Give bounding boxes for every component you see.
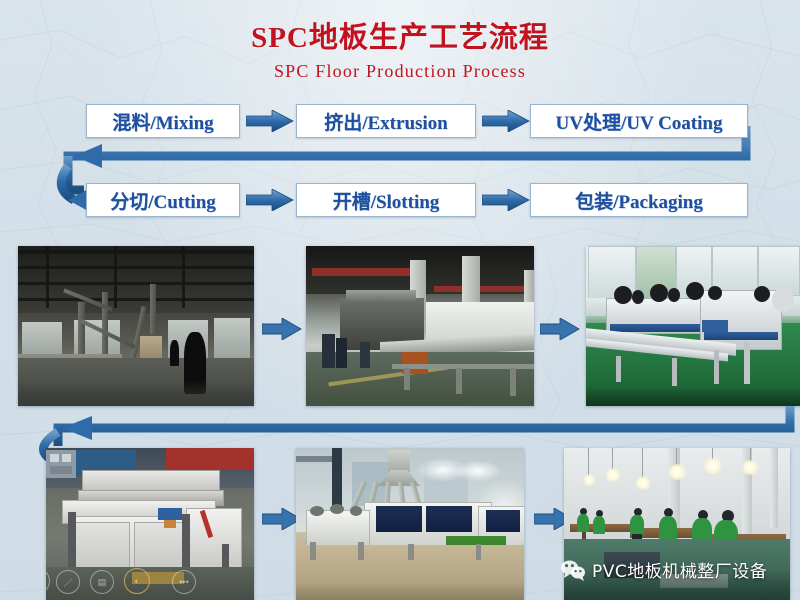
- flow-arrow-2: [482, 110, 530, 132]
- photo-arrow-1: [262, 318, 302, 340]
- flow-step-packaging[interactable]: 包装/Packaging: [530, 183, 748, 217]
- more-icon[interactable]: •••: [172, 570, 196, 594]
- flow-step-slotting-label: 开槽/Slotting: [333, 187, 440, 214]
- flow-arrow-4: [482, 189, 530, 211]
- rotate-icon[interactable]: ◐: [124, 568, 150, 594]
- watermark-text: PVC地板机械整厂设备: [592, 557, 767, 582]
- photo-slotting-machine[interactable]: [296, 448, 524, 600]
- flow-step-mixing[interactable]: 混料/Mixing: [86, 104, 240, 138]
- photo-arrow-2: [540, 318, 580, 340]
- flow-step-extrusion[interactable]: 挤出/Extrusion: [296, 104, 476, 138]
- page-title-chinese: SPC地板生产工艺流程: [0, 14, 800, 56]
- flow-step-extrusion-label: 挤出/Extrusion: [324, 108, 448, 135]
- photo-extrusion-line[interactable]: [306, 246, 534, 406]
- watermark: PVC地板机械整厂设备: [560, 557, 767, 582]
- photo-mixing-workshop[interactable]: [18, 246, 254, 406]
- page-title-english: SPC Floor Production Process: [0, 61, 800, 82]
- flow-step-uv-coating[interactable]: UV处理/UV Coating: [530, 104, 748, 138]
- photo-uv-coating-machine[interactable]: [586, 246, 800, 406]
- screen-icon[interactable]: ▤: [90, 570, 114, 594]
- wechat-icon: [560, 559, 586, 581]
- flow-arrow-3: [246, 189, 294, 211]
- photo-cutting-machine[interactable]: ▶ ／ ▤ ◐ •••: [46, 448, 254, 600]
- speed-icon[interactable]: ／: [56, 570, 80, 594]
- flow-step-packaging-label: 包装/Packaging: [575, 187, 703, 214]
- flow-step-cutting[interactable]: 分切/Cutting: [86, 183, 240, 217]
- flow-step-uv-coating-label: UV处理/UV Coating: [556, 108, 723, 135]
- flow-step-slotting[interactable]: 开槽/Slotting: [296, 183, 476, 217]
- flow-arrow-1: [246, 110, 294, 132]
- flow-step-cutting-label: 分切/Cutting: [110, 187, 216, 214]
- slide-canvas: SPC地板生产工艺流程 SPC Floor Production Process…: [0, 0, 800, 600]
- flow-step-mixing-label: 混料/Mixing: [112, 108, 213, 135]
- title-block: SPC地板生产工艺流程 SPC Floor Production Process: [0, 14, 800, 82]
